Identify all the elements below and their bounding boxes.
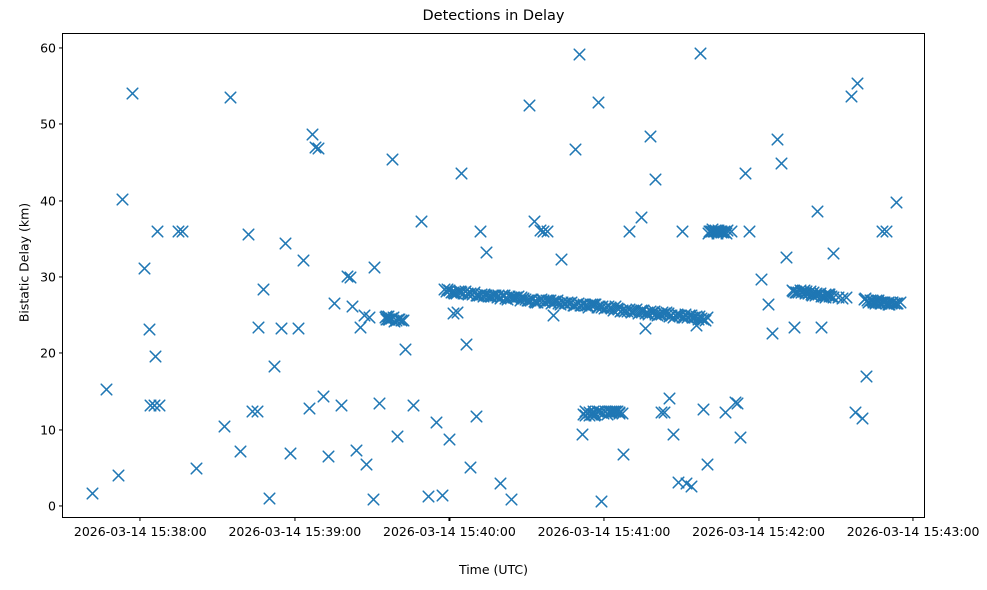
track-point-marker bbox=[890, 297, 903, 310]
data-point-marker bbox=[856, 412, 869, 425]
track-point-marker bbox=[605, 302, 618, 315]
data-point-marker bbox=[639, 322, 652, 335]
track-point-marker bbox=[872, 296, 885, 309]
y-axis-tick-mark bbox=[59, 353, 63, 354]
data-point-marker bbox=[795, 286, 808, 299]
track-point-marker bbox=[874, 297, 887, 310]
track-point-marker bbox=[705, 225, 718, 238]
data-point-marker bbox=[297, 254, 310, 267]
track-point-marker bbox=[581, 299, 594, 312]
data-point-marker bbox=[576, 428, 589, 441]
track-point-marker bbox=[582, 301, 595, 314]
track-point-marker bbox=[583, 406, 596, 419]
data-point-marker bbox=[306, 128, 319, 141]
track-point-marker bbox=[715, 226, 728, 239]
track-point-marker bbox=[457, 287, 470, 300]
y-axis-tick-mark bbox=[59, 276, 63, 277]
track-point-marker bbox=[618, 305, 631, 318]
track-point-marker bbox=[632, 307, 645, 320]
data-point-marker bbox=[663, 392, 676, 405]
data-point-marker bbox=[322, 450, 335, 463]
track-point-marker bbox=[686, 311, 699, 324]
data-point-marker bbox=[382, 313, 395, 326]
data-point-marker bbox=[860, 370, 873, 383]
track-point-marker bbox=[607, 405, 620, 418]
data-point-marker bbox=[880, 225, 893, 238]
track-point-marker bbox=[473, 289, 486, 302]
track-point-marker bbox=[612, 303, 625, 316]
data-point-marker bbox=[528, 215, 541, 228]
track-point-marker bbox=[706, 223, 719, 236]
track-point-marker bbox=[477, 290, 490, 303]
data-point-marker bbox=[771, 133, 784, 146]
data-point-marker bbox=[303, 402, 316, 415]
data-point-marker bbox=[358, 309, 371, 322]
data-point-marker bbox=[667, 428, 680, 441]
track-point-marker bbox=[535, 293, 548, 306]
track-point-marker bbox=[482, 290, 495, 303]
track-point-marker bbox=[891, 297, 904, 310]
track-point-marker bbox=[827, 291, 840, 304]
track-point-marker bbox=[598, 302, 611, 315]
data-point-marker bbox=[126, 87, 139, 100]
track-point-marker bbox=[454, 285, 467, 298]
data-point-marker bbox=[151, 225, 164, 238]
track-point-marker bbox=[812, 288, 825, 301]
track-point-marker bbox=[683, 309, 696, 322]
data-point-marker bbox=[827, 247, 840, 260]
track-point-marker bbox=[577, 408, 590, 421]
track-point-marker bbox=[584, 298, 597, 311]
track-point-marker bbox=[695, 312, 708, 325]
data-point-marker bbox=[840, 291, 853, 304]
data-point-marker bbox=[268, 360, 281, 373]
track-point-marker bbox=[589, 298, 602, 311]
track-point-marker bbox=[443, 284, 456, 297]
data-point-marker bbox=[149, 350, 162, 363]
data-point-marker bbox=[676, 225, 689, 238]
data-point-marker bbox=[312, 142, 325, 155]
track-point-marker bbox=[587, 405, 600, 418]
track-point-marker bbox=[522, 294, 535, 307]
track-point-marker bbox=[455, 286, 468, 299]
track-point-marker bbox=[711, 227, 724, 240]
data-point-marker bbox=[719, 406, 732, 419]
track-point-marker bbox=[501, 293, 514, 306]
data-point-marker bbox=[617, 448, 630, 461]
track-point-marker bbox=[568, 299, 581, 312]
data-point-marker bbox=[537, 225, 550, 238]
track-point-marker bbox=[604, 301, 617, 314]
data-point-marker bbox=[869, 297, 882, 310]
data-point-marker bbox=[242, 228, 255, 241]
track-point-marker bbox=[642, 308, 655, 321]
track-point-marker bbox=[440, 285, 453, 298]
track-point-marker bbox=[717, 226, 730, 239]
data-point-marker bbox=[474, 225, 487, 238]
y-axis-tick-mark bbox=[59, 429, 63, 430]
track-point-marker bbox=[551, 294, 564, 307]
track-point-marker bbox=[709, 224, 722, 237]
track-point-marker bbox=[641, 306, 654, 319]
track-point-marker bbox=[599, 405, 612, 418]
data-point-marker bbox=[685, 480, 698, 493]
data-point-marker bbox=[116, 193, 129, 206]
track-point-marker bbox=[797, 285, 810, 298]
data-point-marker bbox=[470, 410, 483, 423]
data-point-marker bbox=[317, 390, 330, 403]
track-point-marker bbox=[533, 294, 546, 307]
data-point-marker bbox=[715, 225, 728, 238]
track-point-marker bbox=[494, 292, 507, 305]
track-point-marker bbox=[507, 291, 520, 304]
data-point-marker bbox=[707, 225, 720, 238]
track-point-marker bbox=[579, 405, 592, 418]
track-point-marker bbox=[676, 311, 689, 324]
track-point-marker bbox=[540, 294, 553, 307]
track-point-marker bbox=[674, 309, 687, 322]
data-point-marker bbox=[583, 409, 596, 422]
track-point-marker bbox=[790, 286, 803, 299]
track-point-marker bbox=[799, 287, 812, 300]
track-point-marker bbox=[596, 300, 609, 313]
track-point-marker bbox=[866, 294, 879, 307]
track-point-marker bbox=[499, 292, 512, 305]
data-point-marker bbox=[798, 284, 811, 297]
track-point-marker bbox=[605, 405, 618, 418]
data-point-marker bbox=[836, 292, 849, 305]
data-point-marker bbox=[876, 225, 889, 238]
y-axis-tick-mark bbox=[59, 200, 63, 201]
x-axis-tick-mark bbox=[294, 517, 295, 521]
track-point-marker bbox=[484, 290, 497, 303]
data-point-marker bbox=[766, 327, 779, 340]
track-point-marker bbox=[614, 305, 627, 318]
data-point-marker bbox=[864, 294, 877, 307]
data-point-marker bbox=[592, 96, 605, 109]
data-point-marker bbox=[460, 338, 473, 351]
track-point-marker bbox=[503, 290, 516, 303]
data-point-marker bbox=[380, 313, 393, 326]
data-point-marker bbox=[399, 343, 412, 356]
data-point-marker bbox=[613, 406, 626, 419]
y-axis-label: Bistatic Delay (km) bbox=[17, 153, 32, 373]
track-point-marker bbox=[559, 297, 572, 310]
track-point-marker bbox=[878, 296, 891, 309]
track-point-marker bbox=[385, 312, 398, 325]
track-point-marker bbox=[720, 227, 733, 240]
data-point-marker bbox=[335, 399, 348, 412]
track-point-marker bbox=[387, 311, 400, 324]
data-point-marker bbox=[341, 270, 354, 283]
track-point-marker bbox=[859, 292, 872, 305]
track-point-marker bbox=[542, 294, 555, 307]
track-point-marker bbox=[692, 313, 705, 326]
track-point-marker bbox=[807, 286, 820, 299]
track-point-marker bbox=[581, 407, 594, 420]
track-point-marker bbox=[662, 307, 675, 320]
track-point-marker bbox=[663, 310, 676, 323]
track-point-marker bbox=[795, 286, 808, 299]
data-point-marker bbox=[555, 253, 568, 266]
track-point-marker bbox=[565, 296, 578, 309]
track-point-marker bbox=[861, 294, 874, 307]
track-point-marker bbox=[882, 298, 895, 311]
track-point-marker bbox=[567, 299, 580, 312]
track-point-marker bbox=[655, 308, 668, 321]
track-point-marker bbox=[586, 298, 599, 311]
data-point-marker bbox=[480, 246, 493, 259]
data-point-marker bbox=[234, 445, 247, 458]
data-point-marker bbox=[494, 477, 507, 490]
track-point-marker bbox=[626, 305, 639, 318]
data-point-marker bbox=[603, 406, 616, 419]
track-point-marker bbox=[651, 309, 664, 322]
data-point-marker bbox=[894, 296, 907, 309]
track-point-marker bbox=[644, 305, 657, 318]
data-point-marker bbox=[190, 462, 203, 475]
x-axis-tick-mark bbox=[913, 517, 914, 521]
data-point-marker bbox=[806, 289, 819, 302]
data-point-marker bbox=[144, 399, 157, 412]
track-point-marker bbox=[804, 285, 817, 298]
data-point-marker bbox=[153, 399, 166, 412]
data-point-marker bbox=[712, 225, 725, 238]
track-point-marker bbox=[802, 287, 815, 300]
x-axis-tick-mark bbox=[758, 517, 759, 521]
data-point-marker bbox=[86, 487, 99, 500]
data-point-marker bbox=[100, 383, 113, 396]
data-point-marker bbox=[694, 47, 707, 60]
data-point-marker bbox=[823, 288, 836, 301]
data-point-marker bbox=[275, 322, 288, 335]
data-point-marker bbox=[734, 431, 747, 444]
track-point-marker bbox=[448, 287, 461, 300]
track-point-marker bbox=[480, 289, 493, 302]
data-point-marker bbox=[725, 225, 738, 238]
data-point-marker bbox=[309, 141, 322, 154]
track-point-marker bbox=[869, 296, 882, 309]
data-point-marker bbox=[246, 405, 259, 418]
scatter-plot-area bbox=[63, 34, 924, 517]
track-point-marker bbox=[390, 314, 403, 327]
data-point-marker bbox=[729, 396, 742, 409]
track-point-marker bbox=[575, 299, 588, 312]
data-point-marker bbox=[436, 489, 449, 502]
data-point-marker bbox=[644, 130, 657, 143]
data-point-marker bbox=[354, 321, 367, 334]
track-point-marker bbox=[591, 301, 604, 314]
data-point-marker bbox=[292, 322, 305, 335]
data-point-marker bbox=[138, 262, 151, 275]
track-point-marker bbox=[521, 294, 534, 307]
track-point-marker bbox=[529, 296, 542, 309]
track-point-marker bbox=[678, 311, 691, 324]
track-point-marker bbox=[656, 306, 669, 319]
track-point-marker bbox=[462, 288, 475, 301]
track-point-marker bbox=[714, 225, 727, 238]
track-point-marker bbox=[609, 405, 622, 418]
track-point-marker bbox=[512, 290, 525, 303]
data-point-marker bbox=[743, 225, 756, 238]
track-point-marker bbox=[815, 290, 828, 303]
y-axis-tick-mark bbox=[59, 124, 63, 125]
track-point-marker bbox=[825, 290, 838, 303]
track-point-marker bbox=[875, 297, 888, 310]
track-point-marker bbox=[464, 287, 477, 300]
track-point-marker bbox=[450, 287, 463, 300]
track-point-marker bbox=[862, 296, 875, 309]
track-point-marker bbox=[877, 296, 890, 309]
track-point-marker bbox=[574, 299, 587, 312]
data-point-marker bbox=[252, 321, 265, 334]
track-point-marker bbox=[447, 286, 460, 299]
data-point-marker bbox=[672, 476, 685, 489]
data-point-marker bbox=[257, 283, 270, 296]
track-point-marker bbox=[601, 408, 614, 421]
track-point-marker bbox=[545, 297, 558, 310]
data-point-marker bbox=[451, 306, 464, 319]
data-point-marker bbox=[218, 420, 231, 433]
track-point-marker bbox=[864, 294, 877, 307]
data-point-marker bbox=[867, 296, 880, 309]
data-point-marker bbox=[788, 321, 801, 334]
track-point-marker bbox=[579, 299, 592, 312]
data-point-marker bbox=[464, 461, 477, 474]
x-axis-tick-mark bbox=[449, 517, 450, 521]
data-point-marker bbox=[605, 406, 618, 419]
track-point-marker bbox=[544, 294, 557, 307]
data-point-marker bbox=[148, 399, 161, 412]
track-point-marker bbox=[572, 297, 585, 310]
data-point-marker bbox=[649, 173, 662, 186]
data-point-marker bbox=[586, 408, 599, 421]
track-point-marker bbox=[800, 285, 813, 298]
track-point-marker bbox=[393, 313, 406, 326]
data-point-marker bbox=[815, 321, 828, 334]
data-point-marker bbox=[368, 261, 381, 274]
figure-canvas: Detections in Delay Bistatic Delay (km) … bbox=[0, 0, 987, 590]
data-point-marker bbox=[573, 48, 586, 61]
y-axis-tick-mark bbox=[59, 505, 63, 506]
data-point-marker bbox=[739, 167, 752, 180]
track-point-marker bbox=[669, 309, 682, 322]
data-point-marker bbox=[731, 397, 744, 410]
track-point-marker bbox=[699, 314, 712, 327]
track-point-marker bbox=[658, 307, 671, 320]
track-point-marker bbox=[591, 405, 604, 418]
track-point-marker bbox=[498, 289, 511, 302]
track-point-marker bbox=[701, 311, 714, 324]
track-point-marker bbox=[537, 294, 550, 307]
track-point-marker bbox=[593, 405, 606, 418]
track-point-marker bbox=[478, 288, 491, 301]
track-point-marker bbox=[697, 313, 710, 326]
track-point-marker bbox=[639, 307, 652, 320]
track-point-marker bbox=[561, 296, 574, 309]
track-point-marker bbox=[789, 286, 802, 299]
track-point-marker bbox=[515, 291, 528, 304]
track-point-marker bbox=[702, 227, 715, 240]
track-point-marker bbox=[470, 289, 483, 302]
track-point-marker bbox=[609, 300, 622, 313]
track-point-marker bbox=[628, 305, 641, 318]
track-point-marker bbox=[514, 294, 527, 307]
track-point-marker bbox=[558, 297, 571, 310]
track-point-marker bbox=[491, 291, 504, 304]
track-point-marker bbox=[602, 300, 615, 313]
data-point-marker bbox=[849, 406, 862, 419]
track-point-marker bbox=[593, 300, 606, 313]
track-point-marker bbox=[667, 311, 680, 324]
data-point-marker bbox=[579, 409, 592, 422]
data-point-marker bbox=[251, 405, 264, 418]
track-point-marker bbox=[531, 296, 544, 309]
track-point-marker bbox=[708, 225, 721, 238]
track-point-marker bbox=[721, 224, 734, 237]
track-point-marker bbox=[492, 289, 505, 302]
track-point-marker bbox=[395, 314, 408, 327]
track-point-marker bbox=[885, 297, 898, 310]
track-point-marker bbox=[671, 308, 684, 321]
data-point-marker bbox=[407, 399, 420, 412]
track-point-marker bbox=[577, 298, 590, 311]
track-point-marker bbox=[392, 313, 405, 326]
track-point-marker bbox=[380, 310, 393, 323]
track-point-marker bbox=[570, 298, 583, 311]
track-point-marker bbox=[786, 284, 799, 297]
track-point-marker bbox=[819, 291, 832, 304]
track-point-marker bbox=[886, 296, 899, 309]
data-point-marker bbox=[391, 430, 404, 443]
track-point-marker bbox=[438, 283, 451, 296]
data-point-marker bbox=[819, 288, 832, 301]
track-point-marker bbox=[383, 313, 396, 326]
track-point-marker bbox=[814, 287, 827, 300]
data-point-marker bbox=[176, 225, 189, 238]
track-point-marker bbox=[646, 306, 659, 319]
track-point-marker bbox=[382, 310, 395, 323]
track-point-marker bbox=[466, 288, 479, 301]
track-point-marker bbox=[681, 311, 694, 324]
track-point-marker bbox=[653, 308, 666, 321]
data-point-marker bbox=[655, 406, 668, 419]
track-point-marker bbox=[552, 297, 565, 310]
track-point-marker bbox=[585, 408, 598, 421]
track-point-marker bbox=[485, 290, 498, 303]
data-point-marker bbox=[263, 492, 276, 505]
data-point-marker bbox=[595, 495, 608, 508]
track-point-marker bbox=[616, 407, 629, 420]
data-point-marker bbox=[775, 157, 788, 170]
track-point-marker bbox=[625, 306, 638, 319]
track-point-marker bbox=[487, 289, 500, 302]
track-point-marker bbox=[810, 287, 823, 300]
data-point-marker bbox=[609, 405, 622, 418]
track-point-marker bbox=[787, 285, 800, 298]
track-point-marker bbox=[508, 291, 521, 304]
data-point-marker bbox=[284, 447, 297, 460]
data-point-marker bbox=[623, 225, 636, 238]
data-point-marker bbox=[447, 307, 460, 320]
track-point-marker bbox=[589, 408, 602, 421]
track-point-marker bbox=[635, 304, 648, 317]
data-point-marker bbox=[658, 406, 671, 419]
track-point-marker bbox=[685, 309, 698, 322]
track-point-marker bbox=[597, 407, 610, 420]
track-point-marker bbox=[679, 308, 692, 321]
track-point-marker bbox=[660, 306, 673, 319]
